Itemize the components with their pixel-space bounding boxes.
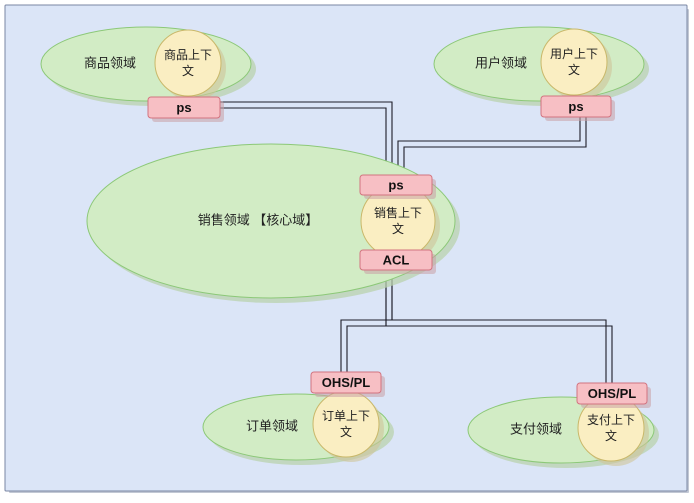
relation-label: ps	[176, 100, 191, 115]
domain-label: 用户领域	[475, 55, 527, 70]
context-label-line1: 销售上下	[374, 205, 422, 220]
relation-rel-sales-ps[interactable]: ps	[360, 175, 436, 199]
domain-ellipse[interactable]	[434, 27, 644, 101]
relation-label: ACL	[383, 252, 410, 267]
relation-label: OHS/PL	[588, 386, 636, 401]
domain-label: 订单领域	[246, 418, 298, 433]
ddd-context-map-diagram: 商品领域用户领域销售领域 【核心域】订单领域支付领域 商品上下文用户上下文销售上…	[0, 0, 694, 503]
context-label-line1: 订单上下	[322, 409, 370, 423]
context-label-line2: 文	[605, 428, 617, 443]
context-label-line1: 支付上下	[587, 413, 635, 427]
relation-rel-sales-acl[interactable]: ACL	[360, 250, 436, 274]
context-circle[interactable]	[313, 391, 379, 457]
relation-label: ps	[568, 99, 583, 114]
relation-rel-product-ps[interactable]: ps	[148, 97, 224, 122]
diagram-canvas: 商品领域用户领域销售领域 【核心域】订单领域支付领域 商品上下文用户上下文销售上…	[0, 0, 694, 503]
context-label-line2: 文	[340, 424, 352, 439]
relation-label: OHS/PL	[322, 375, 370, 390]
relation-rel-order-ohspl[interactable]: OHS/PL	[311, 372, 385, 397]
context-label-line1: 用户上下	[550, 46, 598, 61]
domain-label: 商品领域	[84, 55, 136, 70]
domain-label: 销售领域 【核心域】	[198, 212, 319, 227]
relation-rel-user-ps[interactable]: ps	[541, 96, 615, 121]
context-label-line2: 文	[392, 221, 404, 236]
relation-rel-payment-ohspl[interactable]: OHS/PL	[577, 383, 651, 408]
context-label-line2: 文	[182, 63, 194, 78]
context-circle[interactable]	[541, 29, 607, 95]
context-label-line1: 商品上下	[164, 47, 212, 62]
context-circle[interactable]	[155, 30, 221, 96]
context-label-line2: 文	[568, 62, 580, 77]
relation-label: ps	[388, 177, 403, 192]
domain-label: 支付领域	[510, 421, 562, 436]
